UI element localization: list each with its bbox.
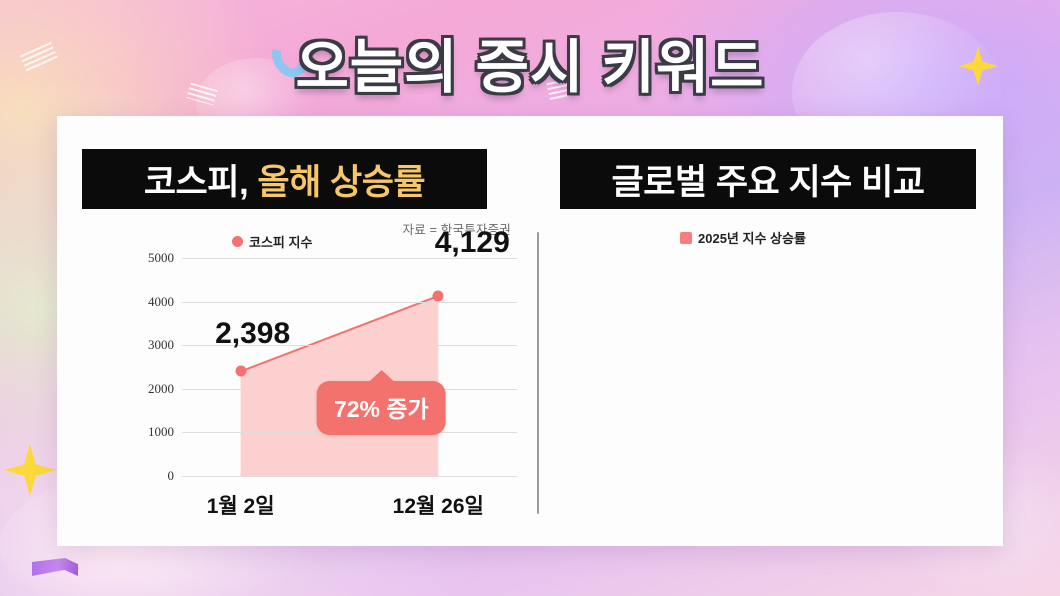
data-point-marker xyxy=(235,366,246,377)
growth-callout-badge: 72% 증가 xyxy=(317,381,446,435)
x-axis-tick-label: 12월 26일 xyxy=(393,490,484,520)
legend-dot-icon xyxy=(232,236,243,247)
panel-kospi-trend: 코스피, 올해 상승률 자료 = 한국투자증권 코스피 지수 010002000… xyxy=(57,116,537,546)
slide-canvas: 오늘의 증시 키워드 코스피, 올해 상승률 자료 = 한국투자증권 코스피 지… xyxy=(0,0,1060,596)
legend-index-growth: 2025년 지수 상승률 xyxy=(680,228,806,247)
sparkle-star-icon xyxy=(4,444,56,496)
panel-left-heading-part1: 코스피, xyxy=(144,154,248,205)
kospi-area-series xyxy=(182,258,517,476)
y-axis-tick-label: 5000 xyxy=(148,250,174,266)
purple-ribbon-icon xyxy=(32,558,78,576)
page-title: 오늘의 증시 키워드 xyxy=(0,20,1060,104)
y-axis-tick-label: 3000 xyxy=(148,337,174,353)
legend-kospi: 코스피 지수 xyxy=(232,232,312,251)
data-value-label: 2,398 xyxy=(215,317,290,351)
panel-left-heading: 코스피, 올해 상승률 xyxy=(82,149,487,209)
x-axis-tick-label: 1월 2일 xyxy=(207,490,275,520)
y-axis-tick-label: 2000 xyxy=(148,381,174,397)
line-chart-plot-area: 0100020003000400050002,3981월 2일4,12912월 … xyxy=(182,258,517,476)
y-axis-tick-label: 4000 xyxy=(148,294,174,310)
legend-label: 코스피 지수 xyxy=(249,232,312,251)
legend-square-icon xyxy=(680,232,692,244)
gridline xyxy=(182,302,517,303)
data-value-label: 4,129 xyxy=(435,226,510,260)
panel-global-comparison: 글로벌 주요 지수 비교 2025년 지수 상승률 0%20%40%60%80%… xyxy=(537,116,1003,546)
y-axis-tick-label: 1000 xyxy=(148,424,174,440)
data-point-marker xyxy=(433,290,444,301)
legend-label: 2025년 지수 상승률 xyxy=(698,228,806,247)
gridline xyxy=(182,476,517,477)
panel-right-heading: 글로벌 주요 지수 비교 xyxy=(560,149,976,209)
panel-left-heading-part2: 올해 상승률 xyxy=(257,154,425,205)
y-axis-tick-label: 0 xyxy=(168,468,175,484)
